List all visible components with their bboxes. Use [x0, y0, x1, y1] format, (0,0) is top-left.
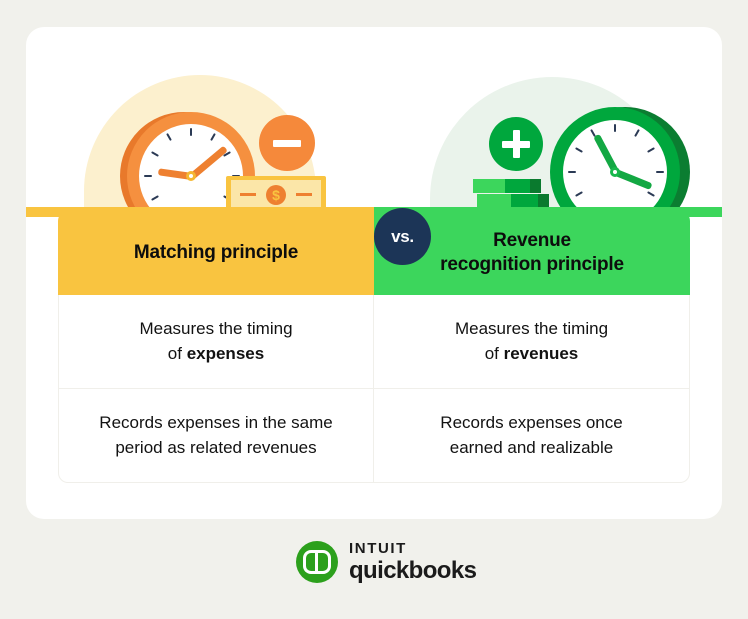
orange-bill-dash-right [296, 193, 312, 196]
content-card: $ [26, 27, 722, 519]
header-revenue-recognition-label: Revenue recognition principle [440, 229, 624, 277]
cell-matching-timing-lead: of [168, 344, 187, 363]
vs-badge-label: vs. [391, 227, 414, 247]
cell-revenue-records: Records expenses once earned and realiza… [374, 389, 689, 482]
vs-badge: vs. [374, 208, 431, 265]
table-row: Records expenses in the same period as r… [58, 389, 690, 483]
cell-revenue-timing-lead: of [485, 344, 504, 363]
orange-bill-dash-left [240, 193, 256, 196]
header-revenue-line2: recognition principle [440, 254, 624, 275]
green-bill-1 [473, 179, 541, 193]
dollar-coin-icon: $ [266, 185, 286, 205]
cell-matching-timing: Measures the timing of expenses [59, 295, 374, 388]
green-bill-2 [477, 194, 549, 208]
table-header-row: Matching principle Revenue recognition p… [58, 211, 690, 295]
header-revenue-line1: Revenue [493, 230, 571, 251]
header-matching-principle: Matching principle [58, 211, 374, 295]
cell-matching-timing-emphasis: expenses [187, 344, 265, 363]
cell-revenue-records-line2: earned and realizable [450, 438, 614, 457]
logo-quickbooks-text: quickbooks [349, 559, 476, 583]
green-clock-hub [610, 167, 620, 177]
logo-wordmark: INTUIT quickbooks [349, 541, 476, 583]
table-row: Measures the timing of expenses Measures… [58, 295, 690, 389]
cell-revenue-records-line1: Records expenses once [440, 413, 622, 432]
orange-clock-hub [186, 171, 196, 181]
header-matching-principle-label: Matching principle [134, 241, 298, 265]
comparison-table: Matching principle Revenue recognition p… [58, 211, 690, 483]
cell-revenue-timing: Measures the timing of revenues [374, 295, 689, 388]
illustration-area: $ [26, 27, 722, 217]
cell-revenue-timing-emphasis: revenues [504, 344, 579, 363]
cell-revenue-timing-prefix: Measures the timing [455, 319, 608, 338]
quickbooks-qb-mark-icon [296, 541, 338, 583]
cell-matching-records-line1: Records expenses in the same [99, 413, 332, 432]
minus-icon [259, 115, 315, 171]
intuit-quickbooks-logo: INTUIT quickbooks [296, 539, 466, 585]
logo-intuit-text: INTUIT [349, 541, 476, 556]
cell-matching-timing-prefix: Measures the timing [139, 319, 292, 338]
infographic-page: $ [0, 0, 748, 619]
cell-matching-records: Records expenses in the same period as r… [59, 389, 374, 482]
cell-matching-records-line2: period as related revenues [115, 438, 316, 457]
plus-icon [489, 117, 543, 171]
